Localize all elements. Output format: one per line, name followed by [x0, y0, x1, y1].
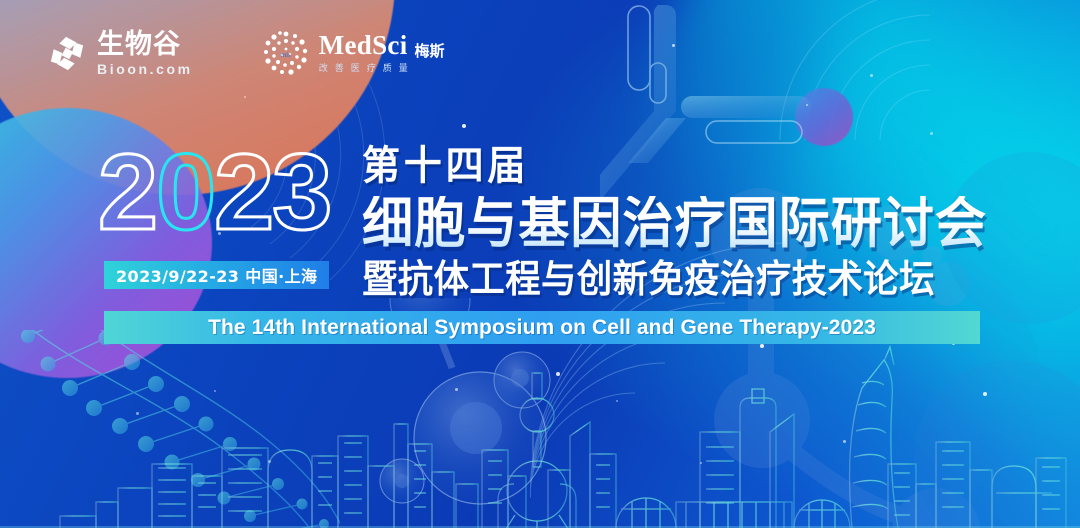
small-gradient-sphere: [795, 88, 853, 146]
medsci-chinese-name: 梅斯: [415, 44, 445, 59]
pinwheel-icon: [48, 34, 86, 72]
year-digit-0: 2: [98, 138, 156, 246]
bioon-logo[interactable]: 生物谷 Bioon.com: [48, 31, 193, 76]
english-title-band: The 14th International Symposium on Cell…: [104, 311, 980, 344]
conference-banner: 生物谷 Bioon.com mis: [0, 0, 1080, 528]
title-block: 第十四届 细胞与基因治疗国际研讨会 暨抗体工程与创新免疫治疗技术论坛: [362, 146, 1034, 298]
title-main: 细胞与基因治疗国际研讨会: [362, 196, 987, 251]
bioon-chinese-name: 生物谷: [97, 31, 193, 58]
dot-circle-icon: mis: [263, 30, 309, 76]
shanghai-skyline-icon: [0, 343, 1080, 528]
english-title-text: The 14th International Symposium on Cell…: [208, 316, 876, 340]
medsci-english-name: MedSci: [319, 32, 408, 59]
sponsor-logos: 生物谷 Bioon.com mis: [48, 30, 445, 76]
year-digit-3: 3: [272, 138, 330, 246]
title-edition: 第十四届: [362, 146, 1000, 186]
year-2023: 2 0 2 3: [98, 138, 330, 246]
dna-helix-icon: [10, 330, 340, 528]
year-digit-2: 2: [214, 138, 272, 246]
title-subforum: 暨抗体工程与创新免疫治疗技术论坛: [362, 260, 987, 298]
bioon-domain: Bioon.com: [97, 62, 193, 76]
medsci-slogan: 改善医疗质量: [319, 65, 445, 74]
year-digit-1: 0: [156, 138, 214, 246]
medsci-logo[interactable]: mis MedSci 梅斯 改善医疗质量: [263, 30, 445, 76]
date-location-badge: 2023/9/22-23 中国·上海: [104, 261, 329, 289]
medsci-mark-text: mis: [281, 51, 291, 59]
